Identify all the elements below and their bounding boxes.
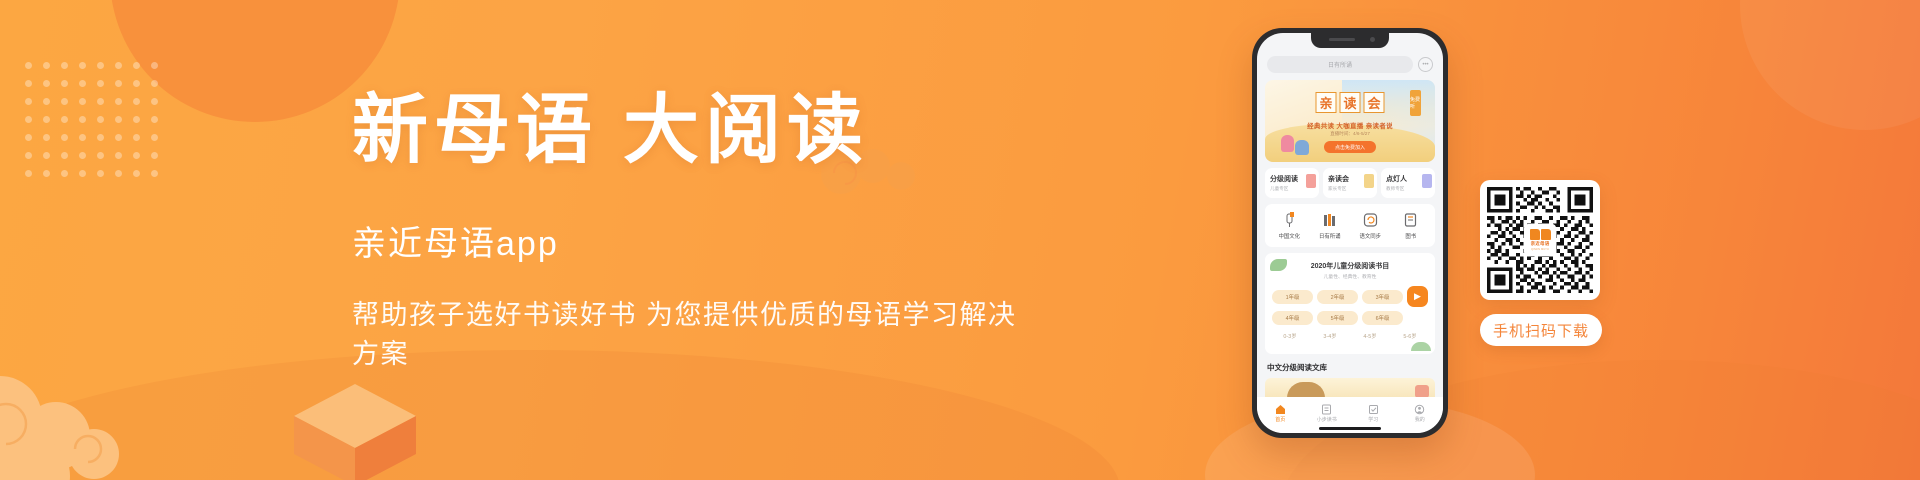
reading-icon — [1321, 402, 1332, 413]
grade-row-2: 4年级 5年级 6年级 — [1272, 311, 1428, 325]
leaf-decoration — [1411, 342, 1431, 351]
home-indicator — [1319, 427, 1381, 430]
bookmark-icon — [1364, 174, 1374, 188]
category-cards: 分级阅读 儿童专区 亲读会 家长专区 点灯人 教师专区 — [1265, 168, 1435, 198]
qr-block: 亲近母语 QINJIN MUYU 手机扫码下载 — [1480, 180, 1602, 346]
quick-icons-row: 中国文化 日有所诵 语文同步 — [1265, 204, 1435, 247]
quick-icon-chinese-culture[interactable]: 中国文化 — [1269, 212, 1310, 240]
hero-title: 亲 读 会 — [1316, 92, 1385, 113]
page-title: 新母语 大阅读 — [352, 92, 1032, 172]
age-tag[interactable]: 5-6岁 — [1392, 329, 1428, 343]
grade-tag[interactable]: 2年级 — [1317, 290, 1358, 304]
category-card-parent-club[interactable]: 亲读会 家长专区 — [1323, 168, 1377, 198]
qr-logo-name: 亲近母语 — [1531, 241, 1550, 247]
phone-mockup: 日有所诵 ••• 亲 读 会 免费听 经典共读 大咖直播 亲读者说 直播时 — [1252, 28, 1448, 438]
age-tag[interactable]: 4-5岁 — [1352, 329, 1388, 343]
tab-label: 小步读书 — [1304, 416, 1351, 423]
hero-title-char: 亲 — [1316, 92, 1337, 113]
tab-profile[interactable]: 我的 — [1397, 402, 1444, 423]
more-dots-icon[interactable]: ••• — [1418, 57, 1433, 72]
promo-banner: 新母语 大阅读 亲近母语app 帮助孩子选好书读好书 为您提供优质的母语学习解决… — [0, 0, 1920, 480]
age-row: 0-3岁 3-4岁 4-5岁 5-6岁 — [1272, 329, 1428, 343]
grade-tag[interactable]: 4年级 — [1272, 311, 1313, 325]
tab-label: 学习 — [1350, 416, 1397, 423]
study-icon — [1368, 402, 1379, 413]
booklist-section: 2020年儿童分级阅读书目 儿童性、经典性、教育性 1年级 2年级 3年级 ▶ … — [1265, 253, 1435, 354]
booklist-subtitle: 儿童性、经典性、教育性 — [1272, 273, 1428, 280]
grade-tag[interactable]: 1年级 — [1272, 290, 1313, 304]
hero-join-button[interactable]: 点击免费加入 — [1324, 141, 1376, 153]
quick-icon-label: 日有所诵 — [1310, 232, 1351, 240]
download-button[interactable]: 手机扫码下载 — [1480, 314, 1602, 346]
tab-label: 我的 — [1397, 416, 1444, 423]
search-input[interactable]: 日有所诵 — [1267, 56, 1413, 73]
books-icon — [1322, 212, 1337, 228]
profile-icon — [1414, 402, 1425, 413]
qr-logo-subtitle: QINJIN MUYU — [1531, 248, 1549, 251]
quick-icon-label: 图书 — [1391, 232, 1432, 240]
book-icon — [1403, 212, 1418, 228]
quick-icon-textbook-sync[interactable]: 语文同步 — [1350, 212, 1391, 240]
video-play-icon[interactable]: ▶ — [1407, 286, 1428, 307]
app-name-subtitle: 亲近母语app — [352, 216, 1032, 265]
tab-study[interactable]: 学习 — [1350, 402, 1397, 423]
age-tag[interactable]: 0-3岁 — [1272, 329, 1308, 343]
app-screen: 日有所诵 ••• 亲 读 会 免费听 经典共读 大咖直播 亲读者说 直播时 — [1257, 33, 1443, 433]
library-card[interactable] — [1265, 378, 1435, 398]
tab-home[interactable]: 首页 — [1257, 402, 1304, 423]
booklist-title: 2020年儿童分级阅读书目 — [1272, 261, 1428, 271]
decorative-circle-top-right — [1740, 0, 1920, 130]
hero-illustration-child-1 — [1281, 135, 1294, 152]
decorative-3d-box — [290, 376, 420, 480]
qr-card: 亲近母语 QINJIN MUYU — [1480, 180, 1600, 300]
qr-center-logo: 亲近母语 QINJIN MUYU — [1524, 224, 1556, 256]
grade-row-1: 1年级 2年级 3年级 ▶ — [1272, 286, 1428, 307]
bookmark-icon — [1422, 174, 1432, 188]
tab-reading[interactable]: 小步读书 — [1304, 402, 1351, 423]
quick-icon-daily-recitation[interactable]: 日有所诵 — [1310, 212, 1351, 240]
qr-code[interactable]: 亲近母语 QINJIN MUYU — [1487, 187, 1593, 293]
bookmark-icon — [1306, 174, 1316, 188]
tagline: 帮助孩子选好书读好书 为您提供优质的母语学习解决方案 — [352, 293, 1032, 371]
hero-subtitle: 经典共读 大咖直播 亲读者说 — [1265, 120, 1435, 130]
grade-tag[interactable]: 3年级 — [1362, 290, 1403, 304]
category-card-graded-reading[interactable]: 分级阅读 儿童专区 — [1265, 168, 1319, 198]
hero-title-char: 读 — [1340, 92, 1361, 113]
phone-notch — [1311, 33, 1389, 48]
app-search-row: 日有所诵 ••• — [1265, 53, 1435, 80]
headline-block: 新母语 大阅读 亲近母语app 帮助孩子选好书读好书 为您提供优质的母语学习解决… — [352, 92, 1032, 371]
hero-banner[interactable]: 亲 读 会 免费听 经典共读 大咖直播 亲读者说 直播时间：4/6-5/27 点… — [1265, 80, 1435, 162]
cloud-decoration-bottom-left — [0, 358, 200, 480]
hero-illustration-child-2 — [1295, 140, 1309, 155]
quick-icon-books[interactable]: 图书 — [1391, 212, 1432, 240]
sync-icon — [1363, 212, 1378, 228]
decorative-dot-grid — [25, 62, 169, 188]
lantern-icon — [1282, 212, 1297, 228]
quick-icon-label: 中国文化 — [1269, 232, 1310, 240]
hero-badge: 免费听 — [1410, 90, 1421, 116]
hero-title-char: 会 — [1364, 92, 1385, 113]
category-card-teacher[interactable]: 点灯人 教师专区 — [1381, 168, 1435, 198]
grade-tag[interactable]: 5年级 — [1317, 311, 1358, 325]
hero-date: 直播时间：4/6-5/27 — [1265, 131, 1435, 137]
library-section-title: 中文分级阅读文库 — [1265, 360, 1435, 378]
grade-tag[interactable]: 6年级 — [1362, 311, 1403, 325]
quick-icon-label: 语文同步 — [1350, 232, 1391, 240]
age-tag[interactable]: 3-4岁 — [1312, 329, 1348, 343]
home-icon — [1275, 402, 1286, 413]
tab-label: 首页 — [1257, 416, 1304, 423]
